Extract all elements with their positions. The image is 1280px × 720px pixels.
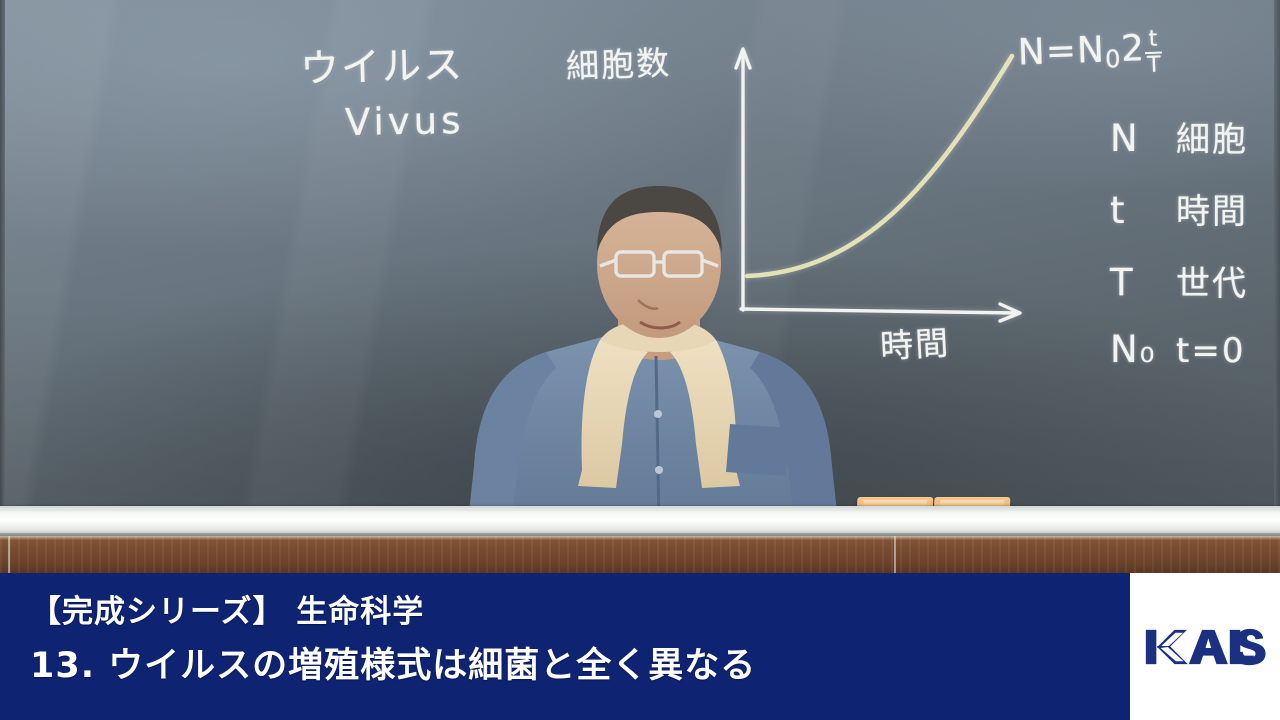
chalk-tray xyxy=(0,506,1280,536)
blackboard-right-edge xyxy=(1274,0,1280,516)
wood-panel-highlight xyxy=(0,536,1280,540)
wood-panel-seam xyxy=(894,536,896,574)
course-series-title: 【完成シリーズ】 生命科学 xyxy=(30,586,1110,639)
wood-panel-seam xyxy=(8,536,10,574)
wood-panel xyxy=(0,536,1280,574)
lesson-title: 13. ウイルスの増殖様式は細菌と全く異なる xyxy=(30,639,1110,694)
video-frame: ウイルス Vivus 細胞数 N=N02tT 時間 N 細胞 t 時間 T 世代… xyxy=(0,0,1280,720)
blackboard xyxy=(0,0,1280,516)
logo-panel xyxy=(1130,573,1280,720)
title-banner-text: 【完成シリーズ】 生命科学 13. ウイルスの増殖様式は細菌と全く異なる xyxy=(30,586,1110,694)
title-banner: 【完成シリーズ】 生命科学 13. ウイルスの増殖様式は細菌と全く異なる xyxy=(0,573,1280,720)
blackboard-left-edge xyxy=(0,0,5,516)
kals-logo xyxy=(1143,619,1267,675)
